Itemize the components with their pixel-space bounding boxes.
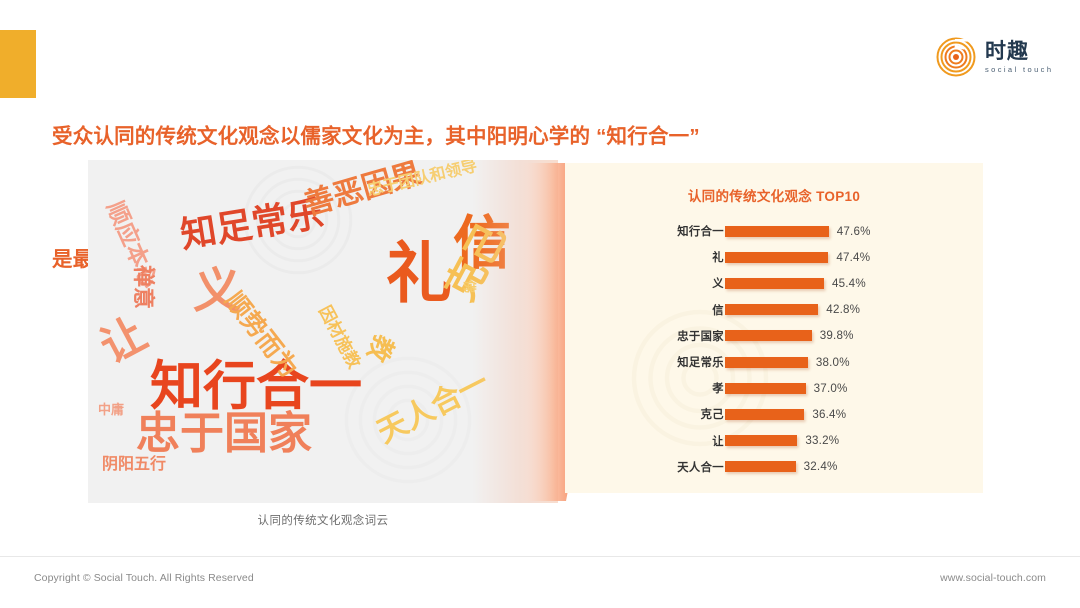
footer-website: www.social-touch.com [940, 572, 1046, 584]
wordcloud-panel: 知行合一礼信知足常乐忠于国家义让善恶因果克己顺势而为天人合一顺应本心忠于团队和领… [88, 160, 558, 503]
wordcloud-word: 中庸 [98, 403, 124, 416]
bar-row: 义45.4% [565, 270, 983, 296]
bar-row: 孝37.0% [565, 375, 983, 401]
wordcloud-word: 佛 [463, 280, 476, 293]
bar-category-label: 礼 [593, 249, 724, 265]
bar-row: 天人合一32.4% [565, 454, 983, 480]
bar-fill [725, 435, 797, 446]
bar-track [725, 304, 818, 315]
bar-row: 知足常乐38.0% [565, 349, 983, 375]
logo-name-en: social touch [985, 66, 1053, 74]
footer-copyright: Copyright © Social Touch. All Rights Res… [34, 572, 254, 584]
bar-category-label: 克己 [593, 406, 724, 422]
bar-fill [725, 461, 796, 472]
bar-track [725, 330, 812, 341]
bar-track [725, 226, 829, 237]
brand-logo: 时趣 social touch [936, 30, 1058, 84]
bar-category-label: 孝 [593, 380, 724, 396]
bar-category-label: 知行合一 [593, 223, 724, 239]
bar-fill [725, 357, 808, 368]
logo-name-cn: 时趣 [985, 41, 1053, 62]
wordcloud-word: 让 [94, 311, 154, 371]
bar-track [725, 409, 804, 420]
bar-category-label: 知足常乐 [593, 354, 724, 370]
logo-wordmark: 时趣 social touch [985, 41, 1053, 74]
bar-row: 知行合一47.6% [565, 218, 983, 244]
wordcloud-word: 知行合一 [150, 360, 362, 413]
footer-divider [0, 556, 1080, 557]
bar-category-label: 义 [593, 275, 724, 291]
bar-fill [725, 278, 824, 289]
bar-value-label: 36.4% [812, 408, 846, 421]
chart-panel: 认同的传统文化观念 TOP10 知行合一47.6%礼47.4%义45.4%信42… [565, 163, 983, 493]
bar-value-label: 42.8% [826, 303, 860, 316]
bar-value-label: 37.0% [814, 382, 848, 395]
bar-category-label: 让 [593, 433, 724, 449]
bar-chart: 知行合一47.6%礼47.4%义45.4%信42.8%忠于国家39.8%知足常乐… [565, 218, 983, 480]
bar-category-label: 忠于国家 [593, 328, 724, 344]
bar-fill [725, 330, 812, 341]
bar-fill [725, 383, 806, 394]
bar-track [725, 278, 824, 289]
bar-track [725, 383, 806, 394]
wordcloud-word: 礼 [386, 240, 452, 306]
bar-value-label: 47.4% [836, 251, 870, 264]
wordcloud-word: 禅意 [132, 265, 154, 309]
bar-value-label: 32.4% [804, 460, 838, 473]
bar-value-label: 38.0% [816, 356, 850, 369]
bar-track [725, 357, 808, 368]
bar-track [725, 461, 796, 472]
bar-row: 克己36.4% [565, 401, 983, 427]
bar-fill [725, 226, 829, 237]
header-accent-bar [0, 30, 36, 98]
bar-fill [725, 409, 804, 420]
bar-row: 让33.2% [565, 428, 983, 454]
bar-track [725, 252, 828, 263]
bar-value-label: 45.4% [832, 277, 866, 290]
chart-title: 认同的传统文化观念 TOP10 [565, 185, 983, 205]
bar-value-label: 33.2% [805, 434, 839, 447]
bar-track [725, 435, 797, 446]
bar-row: 忠于国家39.8% [565, 323, 983, 349]
slide-canvas: 受众认同的传统文化观念以儒家文化为主，其中阳明心学的 “知行合一” 是最为广泛认… [0, 0, 1080, 608]
bar-row: 信42.8% [565, 297, 983, 323]
bar-fill [725, 252, 828, 263]
wordcloud-word: 忠于国家 [136, 412, 312, 456]
spiral-logo-icon [936, 37, 976, 77]
wordcloud-caption: 认同的传统文化观念词云 [88, 512, 558, 528]
bar-value-label: 39.8% [820, 329, 854, 342]
wordcloud-word: 阴阳五行 [102, 457, 166, 473]
bar-category-label: 信 [593, 302, 724, 318]
bar-category-label: 天人合一 [593, 459, 724, 475]
bar-row: 礼47.4% [565, 244, 983, 270]
bar-fill [725, 304, 818, 315]
page-title-line-1: 受众认同的传统文化观念以儒家文化为主，其中阳明心学的 “知行合一” [52, 116, 922, 157]
bar-value-label: 47.6% [837, 225, 871, 238]
